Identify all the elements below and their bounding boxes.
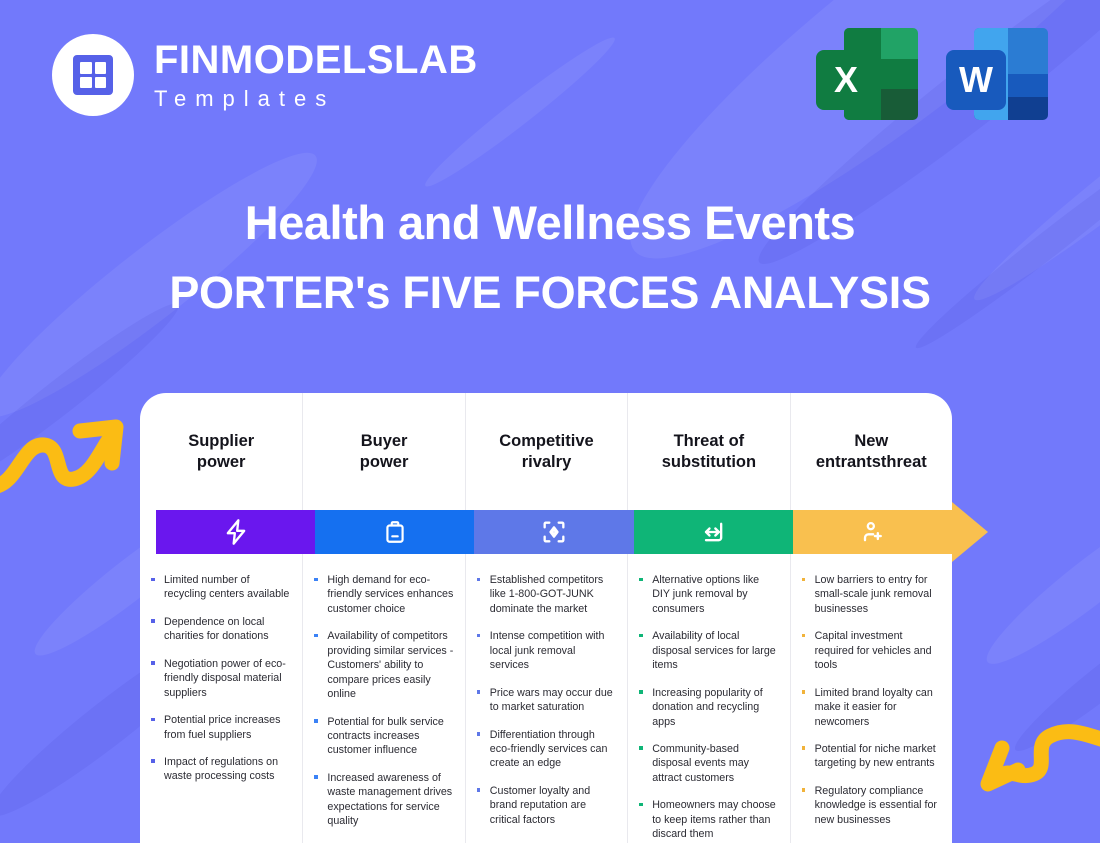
briefcase-icon	[382, 517, 408, 547]
force-column-buyer-power: Buyer power High demand for eco-friendly…	[302, 393, 464, 843]
header-line-1: Competitive	[499, 432, 593, 450]
force-column-competitive-rivalry: Competitive rivalry Established competit…	[465, 393, 627, 843]
band-segment-new-entrants-threat	[793, 510, 952, 554]
force-column-threat-of-substitution: Threat of substitution Alternative optio…	[627, 393, 789, 843]
file-format-badges: X W	[816, 28, 1048, 120]
bullet-list-threat-of-substitution: Alternative options like DIY junk remova…	[636, 573, 778, 842]
column-header-buyer-power: Buyer power	[303, 393, 464, 510]
excel-letter: X	[816, 50, 876, 110]
force-column-new-entrants-threat: New entrantsthreat Low barriers to entry…	[790, 393, 952, 843]
bullet-marker	[477, 578, 481, 582]
page-title: Health and Wellness Events PORTER's FIVE…	[0, 196, 1100, 319]
band-segment-threat-of-substitution	[634, 510, 793, 554]
header-line-1: New	[854, 432, 888, 450]
brand-name: FINMODELSLAB	[154, 40, 478, 80]
column-header-threat-of-substitution: Threat of substitution	[628, 393, 789, 510]
bullet-marker	[314, 775, 318, 779]
list-item: Limited number of recycling centers avai…	[148, 573, 291, 602]
list-item: Capital investment required for vehicles…	[799, 629, 941, 672]
list-item: Increasing popularity of donation and re…	[636, 686, 778, 729]
bullet-marker	[802, 634, 806, 638]
title-line-1: Health and Wellness Events	[0, 196, 1100, 250]
list-item: Community-based disposal events may attr…	[636, 742, 778, 785]
exchange-arrows-icon	[699, 517, 727, 547]
list-item: Regulatory compliance knowledge is essen…	[799, 784, 941, 827]
bullet-list-competitive-rivalry: Established competitors like 1-800-GOT-J…	[474, 573, 616, 827]
list-item: Potential price increases from fuel supp…	[148, 713, 291, 742]
list-item: Increased awareness of waste management …	[311, 771, 453, 829]
bullet-marker	[314, 634, 318, 638]
bullet-marker	[477, 690, 481, 694]
bullet-marker	[151, 661, 155, 665]
header-line-1: Buyer	[361, 432, 408, 450]
bullet-list-new-entrants-threat: Low barriers to entry for small-scale ju…	[799, 573, 941, 827]
column-header-competitive-rivalry: Competitive rivalry	[466, 393, 627, 510]
bullet-marker	[639, 746, 643, 750]
header-line-2: power	[360, 453, 409, 471]
word-letter: W	[946, 50, 1006, 110]
lightning-bolt-icon	[222, 517, 250, 547]
header-line-2: substitution	[662, 453, 756, 471]
column-header-new-entrants-threat: New entrantsthreat	[791, 393, 952, 510]
list-item: Intense competition with local junk remo…	[474, 629, 616, 672]
list-item: Homeowners may choose to keep items rath…	[636, 798, 778, 841]
list-item: Established competitors like 1-800-GOT-J…	[474, 573, 616, 616]
list-item: Differentiation through eco-friendly ser…	[474, 728, 616, 771]
title-line-2: PORTER's FIVE FORCES ANALYSIS	[0, 267, 1100, 319]
bullet-marker	[802, 746, 806, 750]
list-item: Availability of local disposal services …	[636, 629, 778, 672]
add-user-icon	[858, 517, 886, 547]
bullet-marker	[802, 690, 806, 694]
forces-grid: Supplier power Limited number of recycli…	[140, 393, 952, 843]
band-segment-buyer-power	[315, 510, 474, 554]
header-line-2: power	[197, 453, 246, 471]
column-header-supplier-power: Supplier power	[140, 393, 302, 510]
porters-five-forces-card: Supplier power Limited number of recycli…	[140, 393, 952, 843]
bullet-marker	[151, 718, 155, 722]
bullet-marker	[639, 578, 643, 582]
header-line-1: Supplier	[188, 432, 254, 450]
force-color-band	[156, 510, 952, 554]
bullet-marker	[314, 578, 318, 582]
squiggle-arrow-up-right-icon	[0, 405, 128, 502]
band-arrow-tip	[952, 502, 988, 562]
bullet-marker	[802, 788, 806, 792]
word-file-icon[interactable]: W	[946, 28, 1048, 120]
bullet-marker	[802, 578, 806, 582]
focus-target-icon	[540, 517, 568, 547]
bullet-marker	[314, 719, 318, 723]
squiggle-arrow-down-left-icon	[966, 722, 1100, 813]
brand-header: FINMODELSLAB Templates	[52, 34, 478, 116]
list-item: Limited brand loyalty can make it easier…	[799, 686, 941, 729]
list-item: Potential for bulk service contracts inc…	[311, 715, 453, 758]
header-line-1: Threat of	[674, 432, 745, 450]
list-item: Alternative options like DIY junk remova…	[636, 573, 778, 616]
bullet-marker	[151, 759, 155, 763]
list-item: Customer loyalty and brand reputation ar…	[474, 784, 616, 827]
list-item: Negotiation power of eco-friendly dispos…	[148, 657, 291, 700]
list-item: High demand for eco-friendly services en…	[311, 573, 453, 616]
header-line-2: entrantsthreat	[816, 453, 927, 471]
list-item: Low barriers to entry for small-scale ju…	[799, 573, 941, 616]
bullet-marker	[639, 690, 643, 694]
grid-squares-icon	[73, 55, 113, 95]
bullet-marker	[477, 732, 481, 736]
bullet-marker	[639, 634, 643, 638]
list-item: Price wars may occur due to market satur…	[474, 686, 616, 715]
bullet-list-supplier-power: Limited number of recycling centers avai…	[148, 573, 291, 784]
brand-logo[interactable]	[52, 34, 134, 116]
list-item: Potential for niche market targeting by …	[799, 742, 941, 771]
list-item: Impact of regulations on waste processin…	[148, 755, 291, 784]
band-segment-supplier-power	[156, 510, 315, 554]
list-item: Dependence on local charities for donati…	[148, 615, 291, 644]
list-item: Availability of competitors providing si…	[311, 629, 453, 701]
force-column-supplier-power: Supplier power Limited number of recycli…	[140, 393, 302, 843]
bullet-list-buyer-power: High demand for eco-friendly services en…	[311, 573, 453, 829]
bullet-marker	[151, 619, 155, 623]
bullet-marker	[477, 634, 481, 638]
excel-file-icon[interactable]: X	[816, 28, 918, 120]
bullet-marker	[151, 578, 155, 582]
brand-tagline: Templates	[154, 88, 478, 110]
bullet-marker	[639, 803, 643, 807]
header-line-2: rivalry	[522, 453, 572, 471]
bullet-marker	[477, 788, 481, 792]
band-segment-competitive-rivalry	[474, 510, 633, 554]
